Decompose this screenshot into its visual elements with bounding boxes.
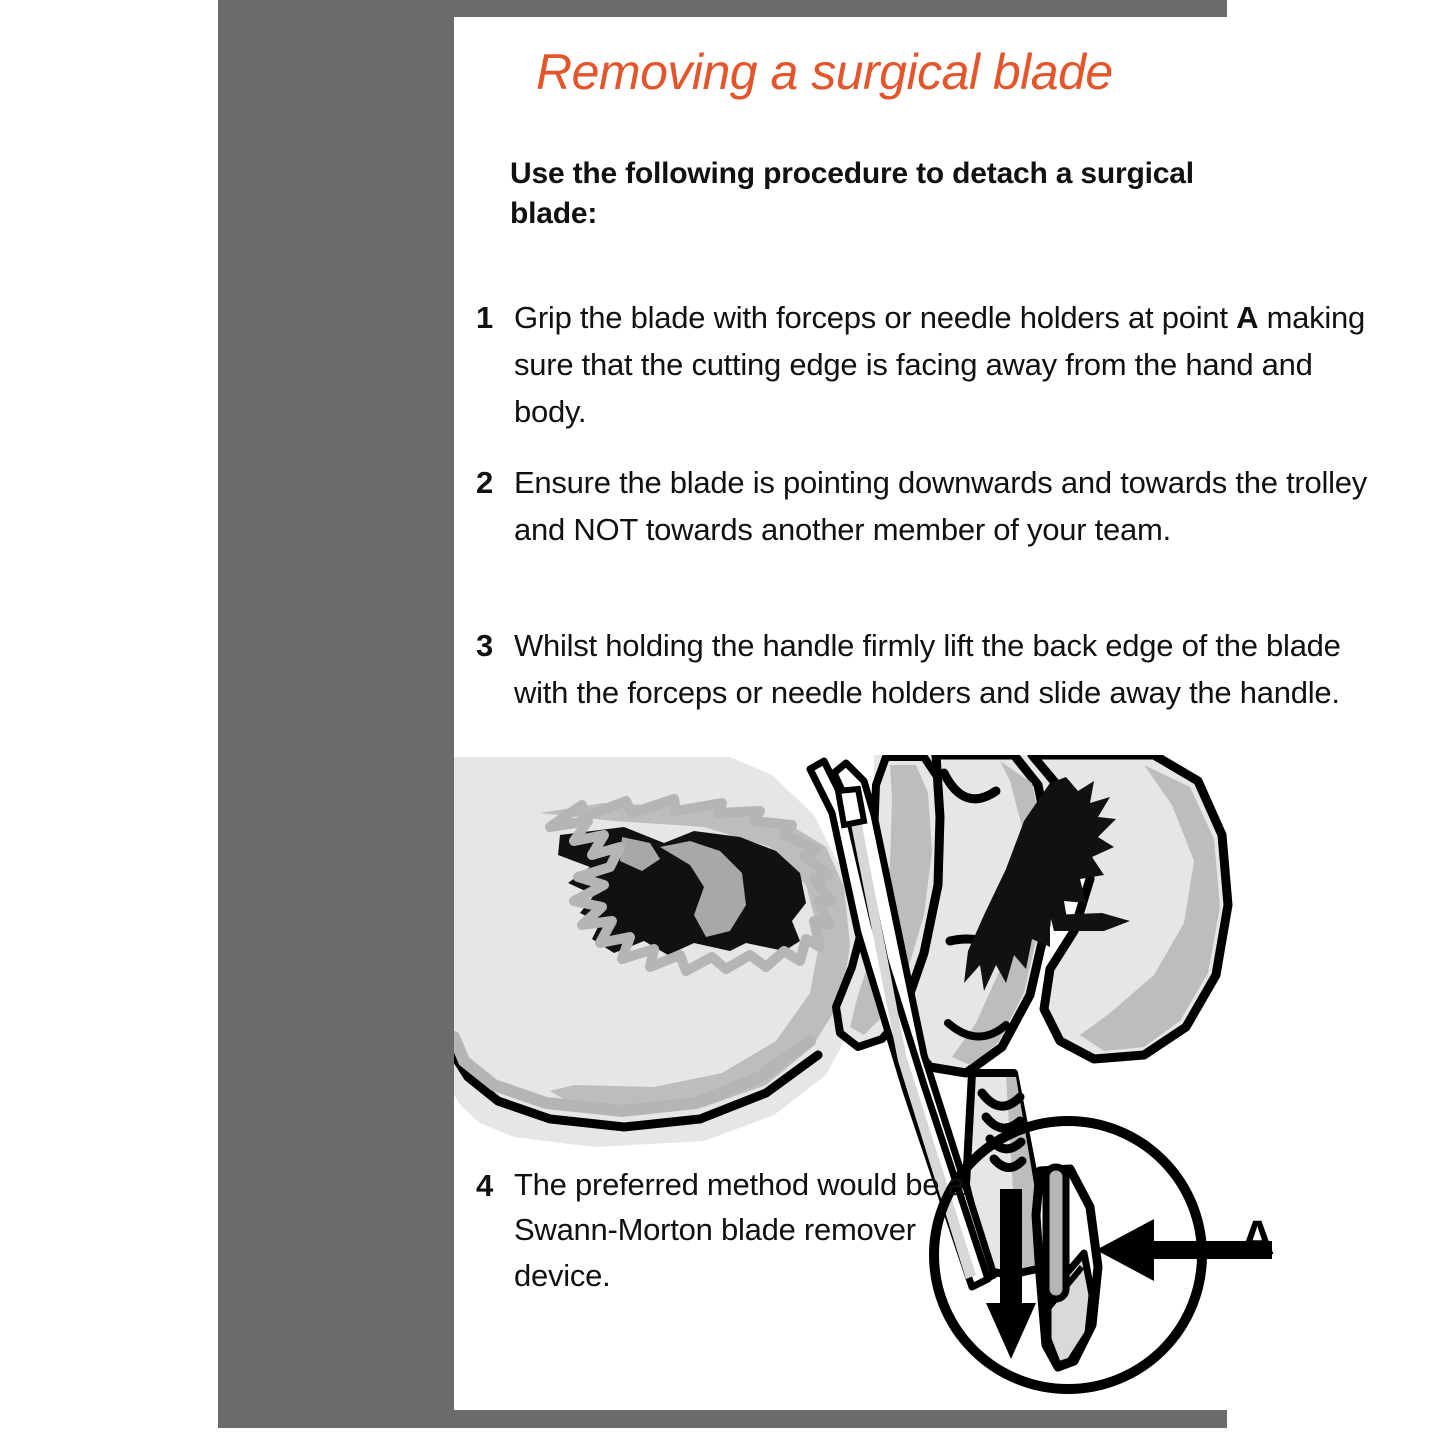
step-number-2: 2 bbox=[476, 459, 514, 553]
page-title: Removing a surgical blade bbox=[536, 43, 1396, 101]
step-item-4: 4 The preferred method would be a Swann-… bbox=[476, 1162, 966, 1298]
step-number-1: 1 bbox=[476, 294, 514, 435]
forceps-hinge bbox=[838, 789, 864, 825]
step-text-1: Grip the blade with forceps or needle ho… bbox=[514, 294, 1391, 435]
step-1-part1: Grip the blade with forceps or needle ho… bbox=[514, 300, 1236, 335]
poster-card: Removing a surgical blade Use the follow… bbox=[454, 17, 1428, 1410]
step-item-1: 1 Grip the blade with forceps or needle … bbox=[476, 294, 1391, 435]
poster-frame: Removing a surgical blade Use the follow… bbox=[218, 0, 1227, 1428]
poster-page: Removing a surgical blade Use the follow… bbox=[0, 0, 1445, 1445]
step-item-3: 3 Whilst holding the handle firmly lift … bbox=[476, 622, 1396, 716]
step-number-3: 3 bbox=[476, 622, 514, 716]
step-item-2: 2 Ensure the blade is pointing downwards… bbox=[476, 459, 1411, 553]
intro-text-strong: detach bbox=[952, 157, 1048, 190]
intro-heading: Use the following procedure to detach a … bbox=[510, 154, 1250, 233]
intro-text-before: Use the following procedure to bbox=[510, 157, 952, 190]
step-text-2: Ensure the blade is pointing downwards a… bbox=[514, 459, 1411, 553]
step-1-point-label: A bbox=[1236, 300, 1258, 335]
step-text-3: Whilst holding the handle firmly lift th… bbox=[514, 622, 1396, 716]
callout-label-a: A bbox=[1240, 1211, 1275, 1266]
step-text-4: The preferred method would be a Swann-Mo… bbox=[514, 1162, 966, 1298]
step-number-4: 4 bbox=[476, 1162, 514, 1298]
blade-slot bbox=[1046, 1167, 1066, 1299]
procedure-illustration bbox=[454, 755, 1428, 1410]
